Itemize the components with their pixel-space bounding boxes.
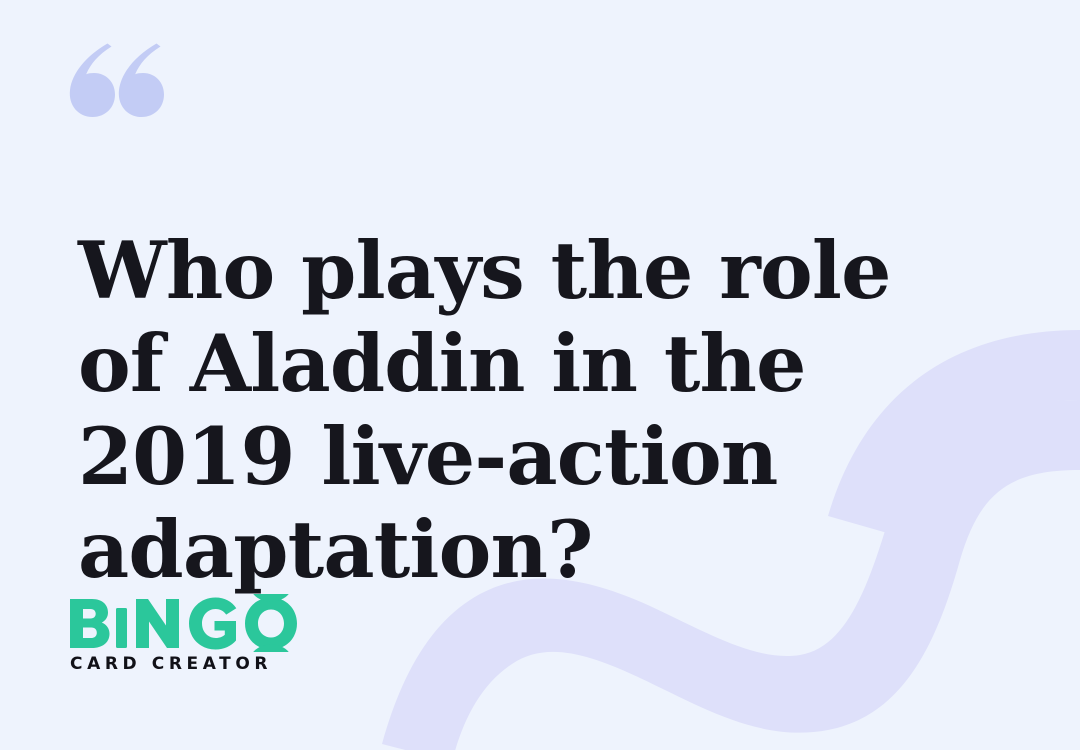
logo-letter-b <box>70 599 110 648</box>
logo-letter-i <box>116 608 127 648</box>
bingo-wordmark <box>68 594 298 652</box>
logo-arc-above-o-icon <box>249 594 293 602</box>
logo-letter-g <box>189 598 236 650</box>
question-headline: Who plays the role of Aladdin in the 201… <box>78 224 998 596</box>
question-card: Who plays the role of Aladdin in the 201… <box>0 0 1080 750</box>
quote-glyph-right <box>119 44 164 118</box>
quote-glyph-left <box>70 44 115 118</box>
quote-open-icon <box>60 40 172 120</box>
brand-logo[interactable]: CARD CREATOR <box>68 594 298 680</box>
logo-arc-below-o-icon <box>249 645 293 653</box>
logo-letter-n <box>136 599 179 648</box>
logo-tagline: CARD CREATOR <box>70 654 272 674</box>
logo-letter-o <box>245 598 297 650</box>
